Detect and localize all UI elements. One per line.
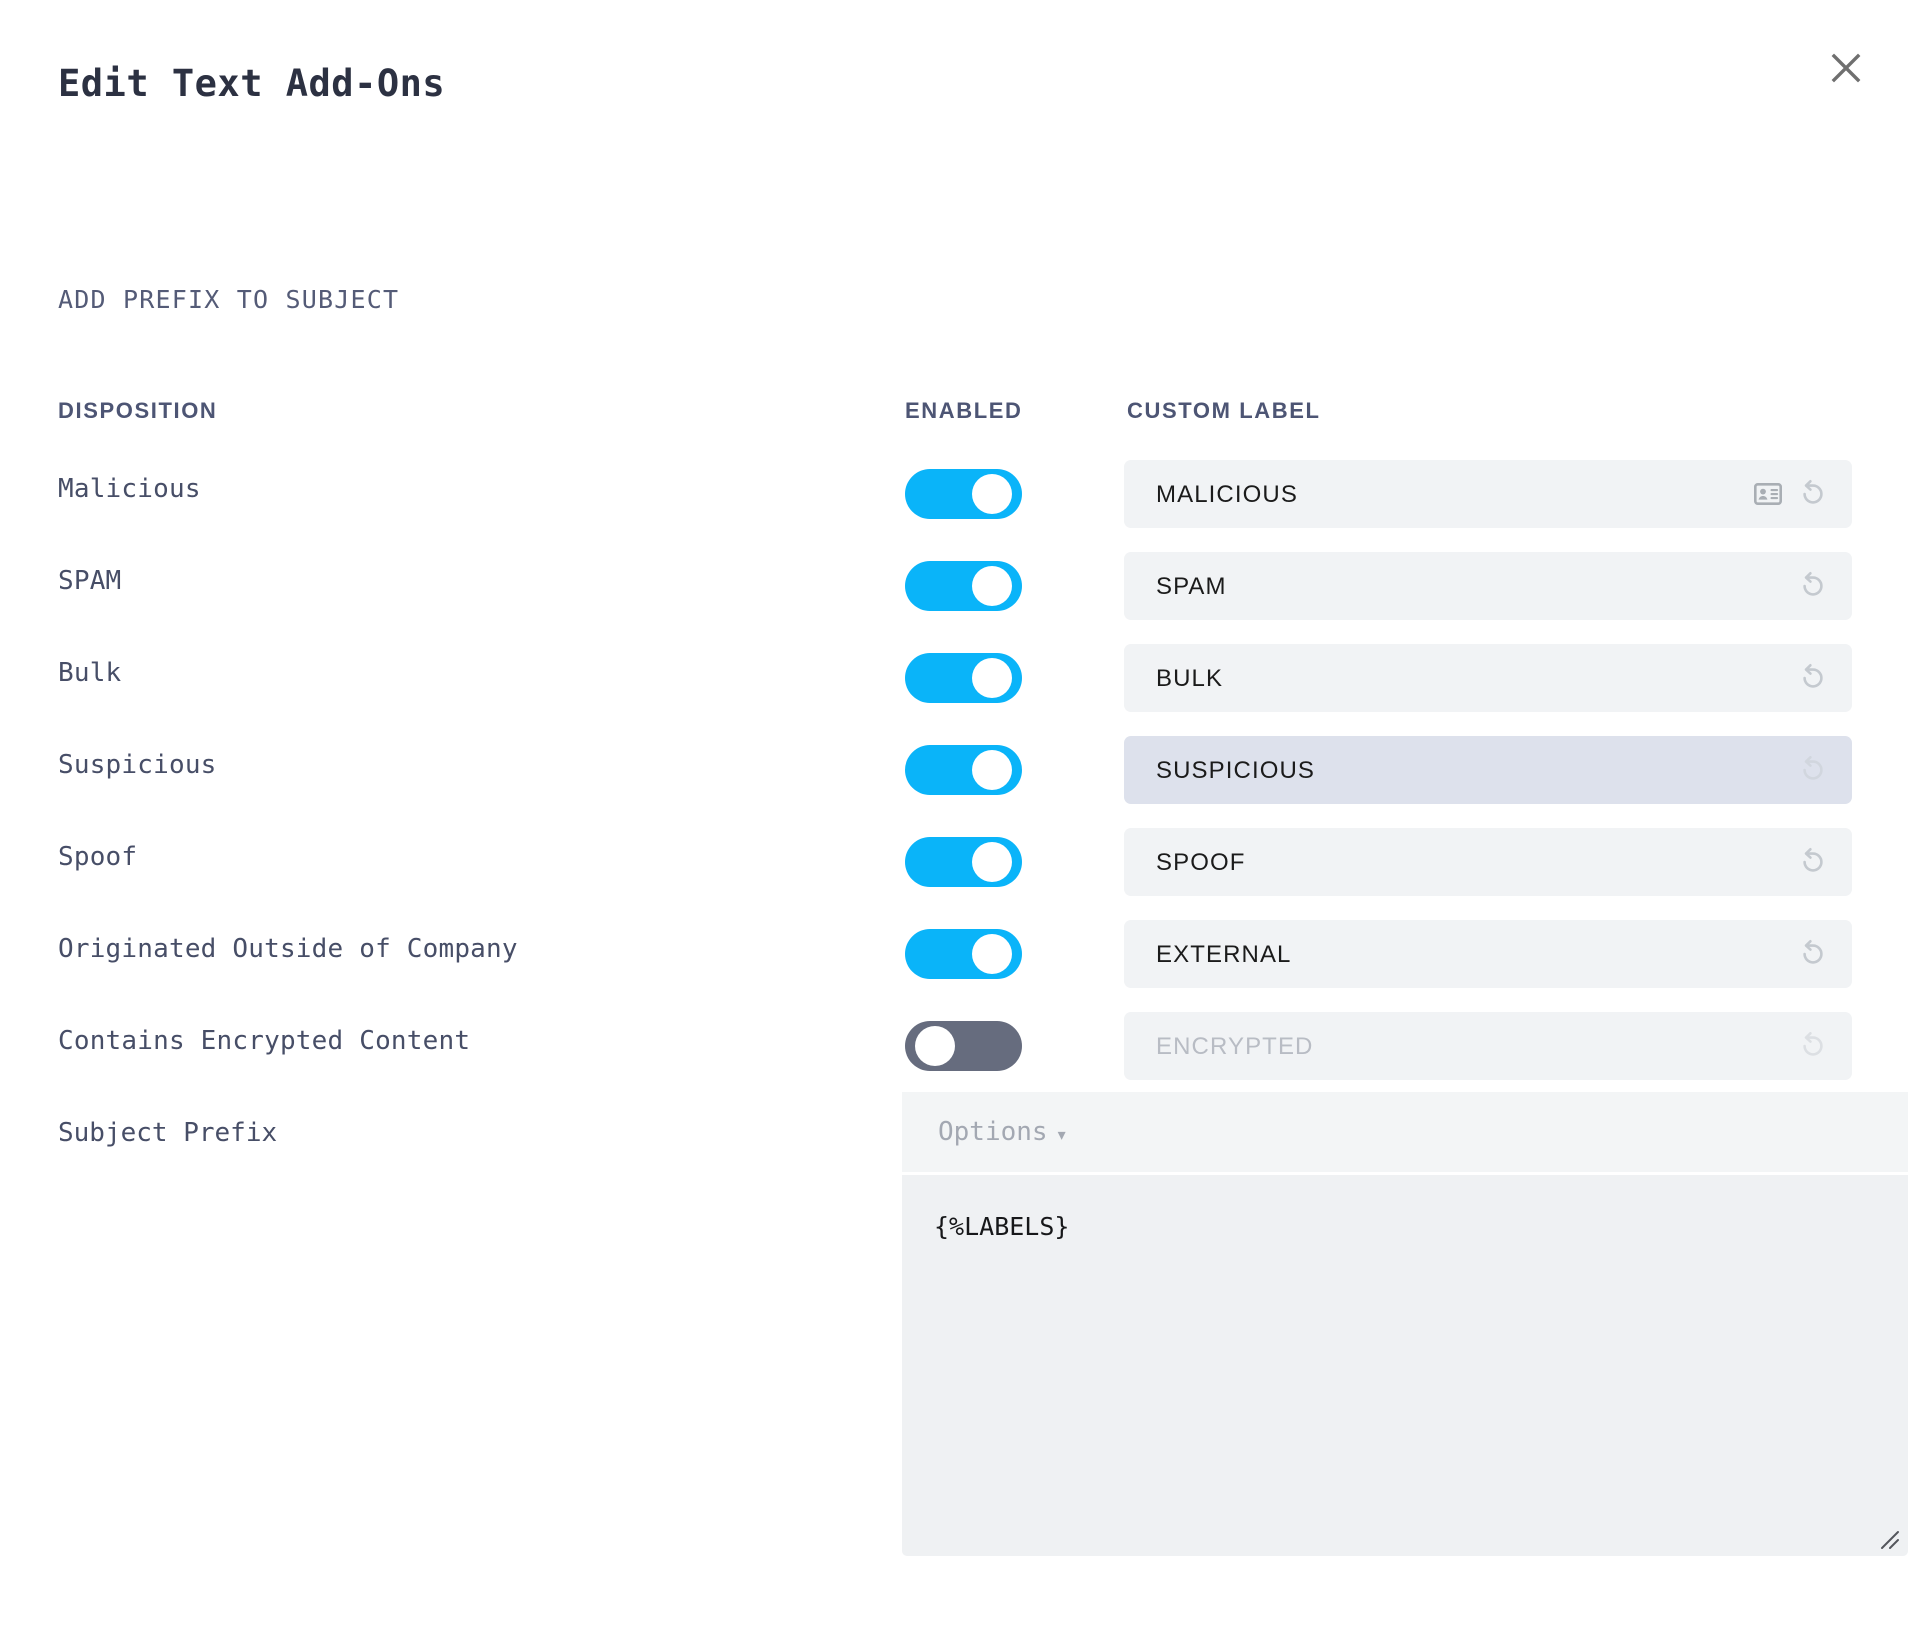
field-icon-group: [1796, 644, 1830, 712]
enabled-toggle[interactable]: [905, 469, 1022, 519]
subject-prefix-textarea[interactable]: {%LABELS}: [902, 1175, 1908, 1556]
chevron-down-icon: ▾: [1058, 1128, 1066, 1144]
custom-label-input[interactable]: BULK: [1124, 644, 1852, 712]
reset-icon[interactable]: [1796, 569, 1830, 603]
custom-label-value: ENCRYPTED: [1156, 1033, 1314, 1061]
column-header-enabled: ENABLED: [905, 398, 1023, 424]
field-icon-group: [1796, 1012, 1830, 1080]
enabled-toggle[interactable]: [905, 837, 1022, 887]
column-header-disposition: DISPOSITION: [58, 398, 217, 424]
custom-label-value: BULK: [1156, 665, 1223, 693]
table-row: Originated Outside of CompanyEXTERNAL: [0, 908, 1908, 1000]
disposition-label: Suspicious: [58, 750, 217, 780]
disposition-label: Malicious: [58, 474, 201, 504]
resize-grip-icon[interactable]: [1874, 1524, 1900, 1550]
custom-label-value: SPAM: [1156, 573, 1227, 601]
field-icon-group: [1796, 920, 1830, 988]
custom-label-value: SUSPICIOUS: [1156, 757, 1315, 785]
custom-label-input[interactable]: ENCRYPTED: [1124, 1012, 1852, 1080]
toggle-knob: [972, 474, 1012, 514]
enabled-toggle[interactable]: [905, 561, 1022, 611]
options-dropdown-label: Options: [938, 1117, 1048, 1147]
reset-icon[interactable]: [1796, 845, 1830, 879]
disposition-label: Contains Encrypted Content: [58, 1026, 470, 1056]
options-dropdown[interactable]: Options ▾: [938, 1117, 1066, 1147]
reset-icon[interactable]: [1796, 477, 1830, 511]
reset-icon[interactable]: [1796, 937, 1830, 971]
column-header-custom-label: CUSTOM LABEL: [1127, 398, 1321, 424]
custom-label-input[interactable]: SPOOF: [1124, 828, 1852, 896]
custom-label-input[interactable]: MALICIOUS: [1124, 460, 1852, 528]
close-button[interactable]: [1820, 42, 1872, 94]
enabled-toggle[interactable]: [905, 929, 1022, 979]
reset-icon[interactable]: [1796, 1029, 1830, 1063]
dialog-header: Edit Text Add-Ons: [0, 0, 1908, 150]
subject-prefix-value: {%LABELS}: [934, 1212, 1069, 1241]
field-icon-group: [1796, 736, 1830, 804]
close-icon: [1829, 51, 1863, 85]
disposition-label: Originated Outside of Company: [58, 934, 518, 964]
table-row: SpoofSPOOF: [0, 816, 1908, 908]
subject-prefix-label: Subject Prefix: [58, 1118, 277, 1148]
field-icon-group: [1796, 552, 1830, 620]
enabled-toggle[interactable]: [905, 1021, 1022, 1071]
toggle-knob: [972, 750, 1012, 790]
table-row: MaliciousMALICIOUS: [0, 448, 1908, 540]
table-row: SuspiciousSUSPICIOUS: [0, 724, 1908, 816]
toggle-knob: [915, 1026, 955, 1066]
toggle-knob: [972, 566, 1012, 606]
custom-label-value: MALICIOUS: [1156, 481, 1298, 509]
custom-label-input[interactable]: EXTERNAL: [1124, 920, 1852, 988]
disposition-label: Spoof: [58, 842, 137, 872]
contact-card-icon[interactable]: [1754, 483, 1782, 505]
disposition-label: Bulk: [58, 658, 121, 688]
field-icon-group: [1796, 828, 1830, 896]
custom-label-value: SPOOF: [1156, 849, 1246, 877]
reset-icon[interactable]: [1796, 661, 1830, 695]
reset-icon[interactable]: [1796, 753, 1830, 787]
enabled-toggle[interactable]: [905, 745, 1022, 795]
table-row: SPAMSPAM: [0, 540, 1908, 632]
field-icon-group: [1754, 460, 1830, 528]
edit-text-addons-dialog: Edit Text Add-Ons ADD PREFIX TO SUBJECT …: [0, 0, 1908, 1650]
table-row: BulkBULK: [0, 632, 1908, 724]
custom-label-input[interactable]: SPAM: [1124, 552, 1852, 620]
enabled-toggle[interactable]: [905, 653, 1022, 703]
custom-label-value: EXTERNAL: [1156, 941, 1292, 969]
page-title: Edit Text Add-Ons: [58, 62, 445, 105]
toggle-knob: [972, 658, 1012, 698]
table-row: Contains Encrypted ContentENCRYPTED: [0, 1000, 1908, 1092]
section-title-add-prefix-to-subject: ADD PREFIX TO SUBJECT: [58, 285, 399, 314]
custom-label-input[interactable]: SUSPICIOUS: [1124, 736, 1852, 804]
toggle-knob: [972, 934, 1012, 974]
toggle-knob: [972, 842, 1012, 882]
editor-toolbar: Options ▾: [902, 1092, 1908, 1172]
disposition-label: SPAM: [58, 566, 121, 596]
